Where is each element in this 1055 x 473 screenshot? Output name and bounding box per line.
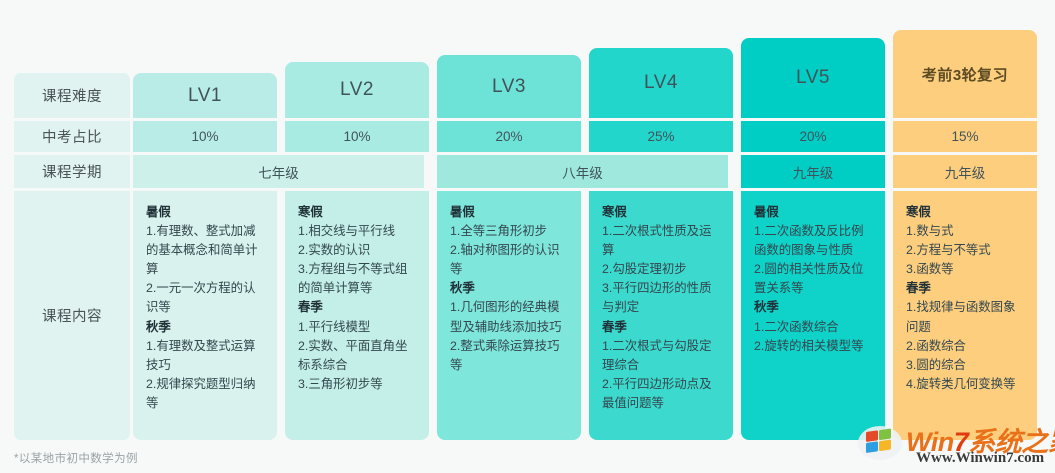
season-heading: 春季 [602,318,722,337]
row-label-exam-share: 中考占比 [14,121,130,152]
course-item: 1.几何图形的经典模型及辅助线添加技巧 [450,298,570,336]
course-item: 1.二次函数及反比例函数的图象与性质 [754,222,874,260]
season-heading: 寒假 [298,203,418,222]
term-spacer-lv4 [589,155,733,188]
course-content-lv1: 暑假1.有理数、整式加减的基本概念和简单计算2.一元一次方程的认识等秋季1.有理… [133,191,277,440]
course-item: 1.二次函数综合 [754,318,874,337]
course-content-lv4: 寒假1.二次根式性质及运算2.勾股定理初步3.平行四边形的性质与判定春季1.二次… [589,191,733,440]
course-content-lv2: 寒假1.相交线与平行线2.实数的认识3.方程组与不等式组的简单计算等春季1.平行… [285,191,429,440]
course-content-lv5: 暑假1.二次函数及反比例函数的图象与性质2.圆的相关性质及位置关系等秋季1.二次… [741,191,885,440]
course-item: 3.方程组与不等式组的简单计算等 [298,260,418,298]
course-item: 1.数与式 [906,222,1026,241]
course-item: 3.平行四边形的性质与判定 [602,279,722,317]
course-item: 2.旋转的相关模型等 [754,337,874,356]
course-item: 1.平行线模型 [298,318,418,337]
exam-share-lv5: 20% [741,121,885,152]
course-content-review: 寒假1.数与式2.方程与不等式3.函数等春季1.找规律与函数图象问题2.函数综合… [893,191,1037,440]
season-heading: 秋季 [450,279,570,298]
season-heading: 寒假 [602,203,722,222]
row-label-content: 课程内容 [14,191,130,440]
column-header-lv3: LV3 [437,55,581,118]
exam-share-lv2: 10% [285,121,429,152]
course-column-lv4[interactable]: LV425%寒假1.二次根式性质及运算2.勾股定理初步3.平行四边形的性质与判定… [589,48,733,440]
season-heading: 暑假 [754,203,874,222]
season-heading: 暑假 [450,203,570,222]
term-spacer-lv2 [285,155,429,188]
row-label-column: 课程难度 中考占比 课程学期 课程内容 [14,73,130,440]
course-item: 1.找规律与函数图象问题 [906,298,1026,336]
course-item: 3.三角形初步等 [298,375,418,394]
column-header-lv1: LV1 [133,73,277,118]
course-item: 1.有理数、整式加减的基本概念和简单计算 [146,222,266,279]
exam-share-lv4: 25% [589,121,733,152]
exam-share-lv3: 20% [437,121,581,152]
course-column-lv2[interactable]: LV210%寒假1.相交线与平行线2.实数的认识3.方程组与不等式组的简单计算等… [285,62,429,440]
course-item: 2.方程与不等式 [906,241,1026,260]
exam-share-review: 15% [893,121,1037,152]
column-header-review: 考前3轮复习 [893,30,1037,118]
course-item: 2.函数综合 [906,337,1026,356]
course-content-lv3: 暑假1.全等三角形初步2.轴对称图形的认识等秋季1.几何图形的经典模型及辅助线添… [437,191,581,440]
season-heading: 春季 [906,279,1026,298]
course-roadmap-table: 课程难度 中考占比 课程学期 课程内容 LV110%七年级暑假1.有理数、整式加… [0,0,1055,473]
course-item: 2.规律探究题型归纳等 [146,375,266,413]
course-item: 2.实数、平面直角坐标系综合 [298,337,418,375]
course-item: 3.圆的综合 [906,356,1026,375]
season-heading: 秋季 [146,318,266,337]
column-header-lv4: LV4 [589,48,733,118]
course-column-lv3[interactable]: LV320%八年级暑假1.全等三角形初步2.轴对称图形的认识等秋季1.几何图形的… [437,55,581,440]
season-heading: 春季 [298,298,418,317]
course-item: 2.轴对称图形的认识等 [450,241,570,279]
course-item: 3.函数等 [906,260,1026,279]
season-heading: 暑假 [146,203,266,222]
course-item: 2.勾股定理初步 [602,260,722,279]
row-label-difficulty: 课程难度 [14,73,130,118]
exam-share-lv1: 10% [133,121,277,152]
footnote: *以某地市初中数学为例 [14,450,138,466]
course-item: 2.整式乘除运算技巧等 [450,337,570,375]
course-column-review[interactable]: 考前3轮复习15%九年级寒假1.数与式2.方程与不等式3.函数等春季1.找规律与… [893,30,1037,440]
course-column-lv5[interactable]: LV520%九年级暑假1.二次函数及反比例函数的图象与性质2.圆的相关性质及位置… [741,38,885,440]
course-item: 1.相交线与平行线 [298,222,418,241]
term-lv5: 九年级 [741,155,885,188]
course-column-lv1[interactable]: LV110%七年级暑假1.有理数、整式加减的基本概念和简单计算2.一元一次方程的… [133,73,277,440]
column-header-lv2: LV2 [285,62,429,118]
course-item: 1.二次根式与勾股定理综合 [602,337,722,375]
course-item: 2.圆的相关性质及位置关系等 [754,260,874,298]
course-item: 2.实数的认识 [298,241,418,260]
course-item: 1.二次根式性质及运算 [602,222,722,260]
course-item: 2.一元一次方程的认识等 [146,279,266,317]
term-review: 九年级 [893,155,1037,188]
course-item: 1.有理数及整式运算技巧 [146,337,266,375]
watermark-url: Www.Winwin7.com [916,450,1044,467]
row-label-term: 课程学期 [14,155,130,188]
course-item: 2.平行四边形动点及最值问题等 [602,375,722,413]
course-item: 1.全等三角形初步 [450,222,570,241]
course-item: 4.旋转类几何变换等 [906,375,1026,394]
season-heading: 寒假 [906,203,1026,222]
season-heading: 秋季 [754,298,874,317]
column-header-lv5: LV5 [741,38,885,118]
